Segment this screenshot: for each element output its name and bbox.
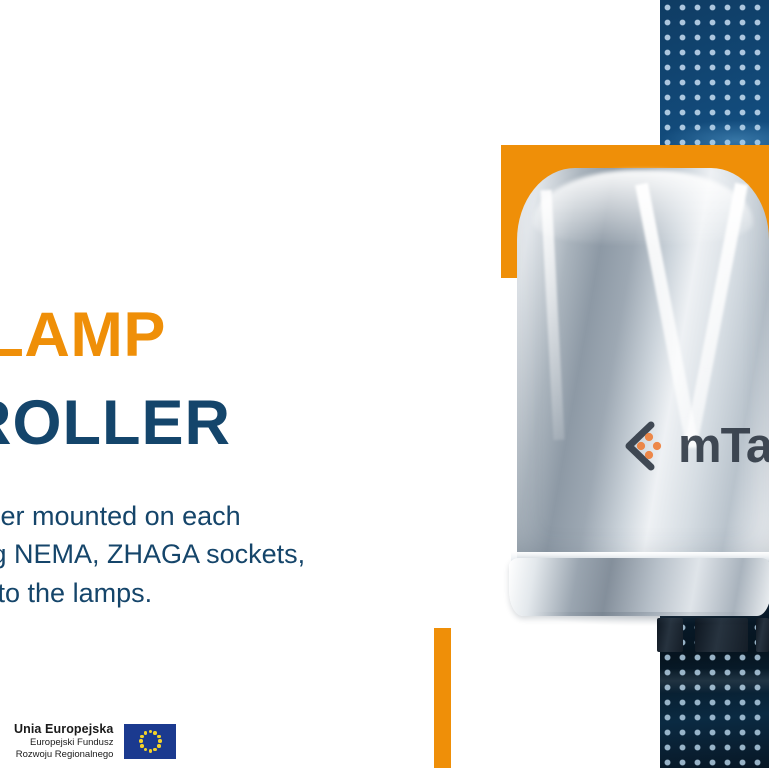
title-line-2: NTROLLER xyxy=(0,392,440,455)
orange-vertical-bar xyxy=(434,628,451,768)
eu-flag-star xyxy=(158,739,162,743)
eu-logo-text: Unia Europejska Europejski Fundusz Rozwo… xyxy=(14,722,113,761)
title-line-1-accent: LAMP xyxy=(0,300,166,370)
slide-canvas: mTa AP LAMP NTROLLER ntroller mounted on… xyxy=(0,0,769,768)
eu-logo-line-2: Europejski Fundusz xyxy=(14,737,113,749)
eu-flag-star xyxy=(153,748,157,752)
body-line-1: ntroller mounted on each xyxy=(0,497,412,535)
v-groove-right xyxy=(684,183,748,449)
eu-flag-star xyxy=(139,739,143,743)
eu-flag-icon xyxy=(124,724,176,759)
device-brand-lockup: mTa xyxy=(621,418,769,474)
eu-flag-star xyxy=(149,749,153,753)
eu-flag-star xyxy=(140,735,144,739)
eu-flag-star xyxy=(149,730,153,734)
v-groove-left xyxy=(635,183,699,449)
body-line-3: tly into the lamps. xyxy=(0,574,412,612)
lamp-controller-device: mTa xyxy=(503,160,769,630)
eu-logo-line-1: Unia Europejska xyxy=(14,722,113,737)
device-brand-text: mTa xyxy=(678,418,769,474)
device-drop-shadow xyxy=(533,612,753,626)
eu-flag-star xyxy=(157,735,161,739)
eu-flag-star xyxy=(144,731,148,735)
device-collar xyxy=(509,558,769,616)
eu-flag-star xyxy=(157,744,161,748)
eu-flag-star xyxy=(153,731,157,735)
eu-flag-star xyxy=(144,748,148,752)
page-title: AP LAMP NTROLLER xyxy=(0,304,440,455)
body-line-2: using NEMA, ZHAGA sockets, xyxy=(0,535,412,573)
eu-flag-star xyxy=(140,744,144,748)
eu-logo-line-3: Rozwoju Regionalnego xyxy=(14,749,113,761)
chevron-dots-icon xyxy=(621,420,667,472)
body-copy: ntroller mounted on each using NEMA, ZHA… xyxy=(0,497,412,612)
eu-funding-logo: Unia Europejska Europejski Fundusz Rozwo… xyxy=(14,722,176,761)
